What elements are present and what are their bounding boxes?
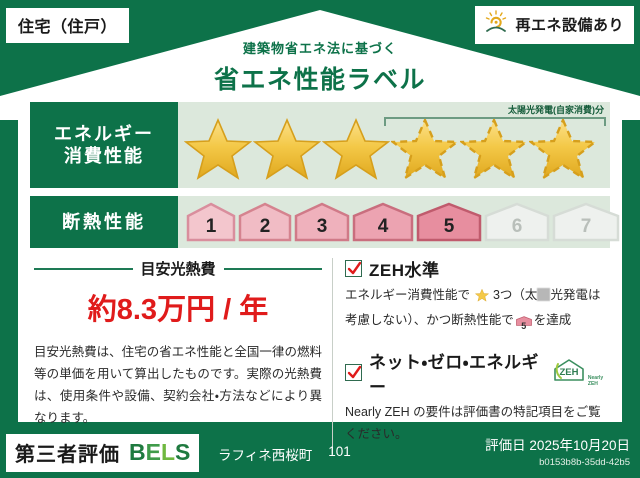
insulation-grade-chip: 2 (238, 202, 292, 242)
solar-bracket (384, 117, 606, 126)
renewable-energy-label: 再エネ設備あり (515, 14, 624, 35)
property-info: ラフィネ西桜町 101 (218, 444, 351, 464)
energy-performance-body: 太陽光発電(自家消費)分 (178, 102, 610, 188)
grade-number: 3 (294, 216, 350, 238)
bels-badge: 第三者評価 BELS (6, 434, 199, 472)
insulation-performance-body: 1 2 3 4 5 (178, 196, 620, 248)
solar-note-label: 太陽光発電(自家消費)分 (508, 103, 604, 116)
zeh-logo: ZEH Nearly ZEH (552, 358, 610, 387)
cost-value: 約8.3万円 / 年 (34, 286, 322, 328)
checkbox-checked-icon (345, 364, 362, 381)
star-icon-inline (471, 291, 492, 305)
svg-text:ZEH: ZEH (559, 367, 578, 378)
insulation-grade-scale: 1 2 3 4 5 (178, 202, 620, 242)
zeh-standard-block: ZEH水準 エネルギー消費性能で 3つ（太光発電は考慮しない）、かつ断熱性能で … (345, 256, 610, 336)
cost-description: 目安光熱費は、住宅の省エネ性能と全国一律の燃料等の単価を用いて算出したものです。… (34, 342, 322, 430)
insulation-performance-label: 断熱性能 (30, 196, 178, 248)
room-number: 101 (328, 444, 351, 464)
document-id: b0153b8b-35dd-42b5 (485, 457, 630, 468)
zeh-desc-part1: エネルギー消費性能で (345, 288, 470, 302)
grade-number: 4 (352, 216, 414, 238)
grade-chip-inline: 5 (516, 314, 532, 336)
star-icon-filled (253, 115, 321, 181)
star-icon-filled (322, 115, 390, 181)
housing-type-label: 住宅（住戸） (18, 19, 117, 36)
insulation-performance-row: 断熱性能 1 2 3 4 (30, 196, 610, 248)
energy-performance-label: エネルギー 消費性能 (30, 102, 178, 188)
checkbox-checked-icon (345, 260, 362, 277)
zeh-logo-sub: Nearly ZEH (588, 376, 610, 387)
sun-icon (483, 10, 509, 39)
grade-chip-inline-number: 5 (516, 319, 532, 335)
insulation-grade-chip-achieved: 5 (416, 202, 482, 242)
zeh-desc-part4: を達成 (534, 313, 572, 327)
footer: 第三者評価 BELS ラフィネ西桜町 101 評価日 2025年10月20日 b… (0, 422, 640, 478)
zeh-standard-title: ZEH水準 (369, 256, 440, 281)
insulation-grade-chip: 4 (352, 202, 414, 242)
insulation-grade-chip-inactive: 6 (484, 202, 550, 242)
grade-number: 7 (552, 216, 620, 238)
cost-title: 目安光熱費 (141, 258, 216, 279)
obscured-character (537, 288, 550, 301)
zeh-standard-description: エネルギー消費性能で 3つ（太光発電は考慮しない）、かつ断熱性能で 5 を達成 (345, 285, 610, 336)
insulation-grade-chip: 3 (294, 202, 350, 242)
third-party-eval-label: 第三者評価 (15, 438, 120, 467)
renewable-energy-badge: 再エネ設備あり (475, 6, 634, 44)
cost-header: 目安光熱費 (34, 258, 322, 279)
insulation-grade-chip-inactive: 7 (552, 202, 620, 242)
energy-performance-row: エネルギー 消費性能 太陽光発電(自家消費)分 (30, 102, 610, 188)
insulation-grade-chip: 1 (186, 202, 236, 242)
net-zero-title: ネット・ゼロ・エネルギー (369, 348, 543, 398)
rule-right (224, 268, 323, 270)
property-name: ラフィネ西桜町 (218, 444, 312, 464)
grade-number: 6 (484, 216, 550, 238)
net-zero-title-row: ネット・ゼロ・エネルギー ZEH Nearly ZEH (345, 348, 610, 398)
grade-number: 5 (416, 216, 482, 238)
label-card: エネルギー 消費性能 太陽光発電(自家消費)分 (18, 92, 622, 422)
grade-number: 2 (238, 216, 292, 238)
grade-number: 1 (186, 216, 236, 238)
star-icon-filled (184, 115, 252, 181)
housing-type-badge: 住宅（住戸） (6, 8, 129, 43)
evaluation-date: 評価日 2025年10月20日 (485, 434, 630, 454)
zeh-house-icon: ZEH (552, 358, 586, 387)
bels-logo: BELS (129, 439, 190, 466)
rule-left (34, 268, 133, 270)
zeh-desc-part2: 3つ（太 (493, 288, 537, 302)
zeh-standard-title-row: ZEH水準 (345, 256, 610, 281)
evaluation-date-block: 評価日 2025年10月20日 b0153b8b-35dd-42b5 (485, 434, 630, 468)
